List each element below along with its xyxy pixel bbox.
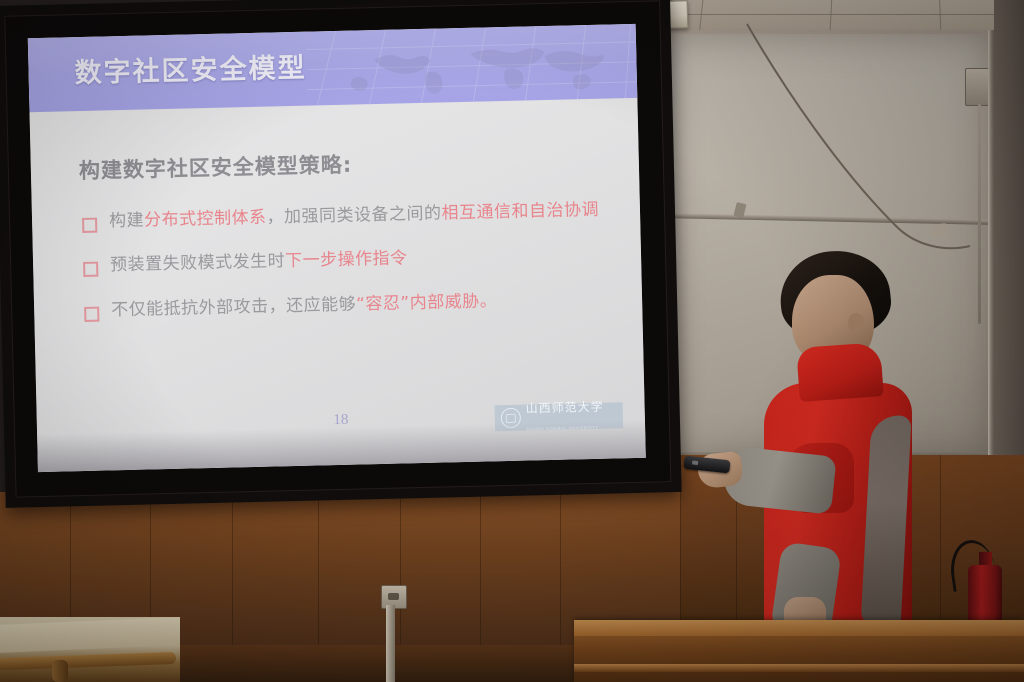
screen-bezel: 数字社区安全模型 构建数字社区安全模型策略: 构建分布式控制体系，加强同类设备之…	[4, 0, 671, 497]
cable-clip	[929, 223, 948, 237]
outlet-cord	[978, 104, 981, 324]
bullet-text: 不仅能抵抗外部攻击，还应能够“容忍”内部威胁。	[111, 291, 498, 321]
desk-front-surface	[574, 620, 1024, 636]
list-item: 预装置失败模式发生时下一步操作指令	[83, 244, 621, 278]
presentation-slide: 数字社区安全模型 构建数字社区安全模型策略: 构建分布式控制体系，加强同类设备之…	[28, 24, 646, 472]
projector-screen: 数字社区安全模型 构建数字社区安全模型策略: 构建分布式控制体系，加强同类设备之…	[0, 0, 682, 508]
slide-bullet-list: 构建分布式控制体系，加强同类设备之间的相互通信和自治协调 预装置失败模式发生时下…	[82, 199, 623, 344]
screen-surface: 数字社区安全模型 构建数字社区安全模型策略: 构建分布式控制体系，加强同类设备之…	[28, 24, 646, 472]
hanging-cable	[745, 20, 985, 280]
presenter-jacket-collar	[796, 342, 884, 402]
presenter-ear	[848, 313, 864, 333]
wall-right-edge	[994, 0, 1024, 520]
slide-title-banner: 数字社区安全模型	[28, 24, 638, 112]
desk-left-leg	[52, 660, 68, 682]
world-map-graphic	[330, 24, 632, 105]
bullet-square-icon	[83, 262, 98, 277]
lecture-room-photo: Redleaf	[0, 0, 1024, 682]
slide-heading: 构建数字社区安全模型策略:	[79, 149, 353, 185]
university-name-cn: 山西师范大学	[525, 400, 603, 416]
floor-conduit	[386, 605, 395, 682]
bullet-square-icon	[82, 218, 97, 233]
presenter	[680, 245, 950, 645]
slide-title: 数字社区安全模型	[74, 46, 307, 90]
list-item: 不仅能抵抗外部攻击，还应能够“容忍”内部威胁。	[84, 288, 622, 322]
bullet-text: 预装置失败模式发生时下一步操作指令	[110, 249, 408, 277]
list-item: 构建分布式控制体系，加强同类设备之间的相互通信和自治协调	[82, 199, 620, 233]
bullet-square-icon	[84, 306, 99, 321]
desk-front-edge	[574, 664, 1024, 672]
bullet-text: 构建分布式控制体系，加强同类设备之间的相互通信和自治协调	[109, 200, 599, 233]
